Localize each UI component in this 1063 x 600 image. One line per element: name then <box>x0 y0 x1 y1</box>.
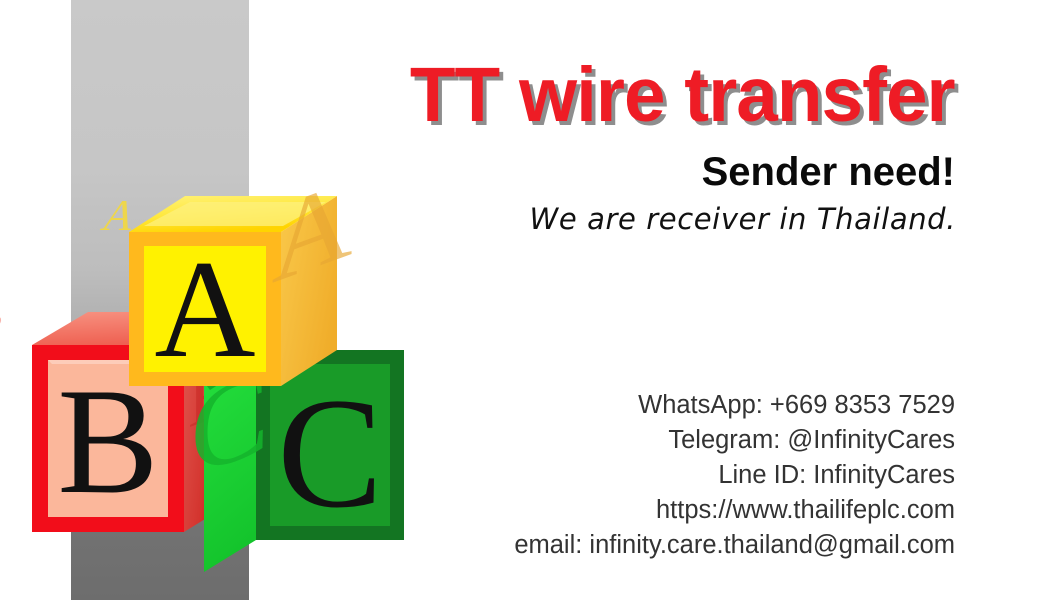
contact-line-website[interactable]: https://www.thailifeplc.com <box>514 493 955 528</box>
tagline-text: We are receiver in Thailand. <box>530 202 956 237</box>
abc-blocks-illustration: B B B C <box>0 0 430 600</box>
contact-line-email[interactable]: email: infinity.care.thailand@gmail.com <box>514 528 955 563</box>
contact-details: WhatsApp: +669 8353 7529 Telegram: @Infi… <box>514 388 955 563</box>
page-subtitle: Sender need! <box>702 150 955 194</box>
block-a-letter: A <box>154 232 255 387</box>
svg-text:A: A <box>272 155 353 308</box>
contact-line-telegram: Telegram: @InfinityCares <box>514 423 955 458</box>
block-c-letter: C <box>277 366 382 541</box>
abc-blocks-graphic: B B B C <box>0 0 430 600</box>
block-a: A A A <box>96 155 352 387</box>
banner-canvas: B B B C <box>0 0 1063 600</box>
contact-line-lineid: Line ID: InfinityCares <box>514 458 955 493</box>
page-title: TT wire transfer <box>410 57 955 134</box>
svg-text:B: B <box>0 306 10 351</box>
contact-line-whatsapp: WhatsApp: +669 8353 7529 <box>514 388 955 423</box>
